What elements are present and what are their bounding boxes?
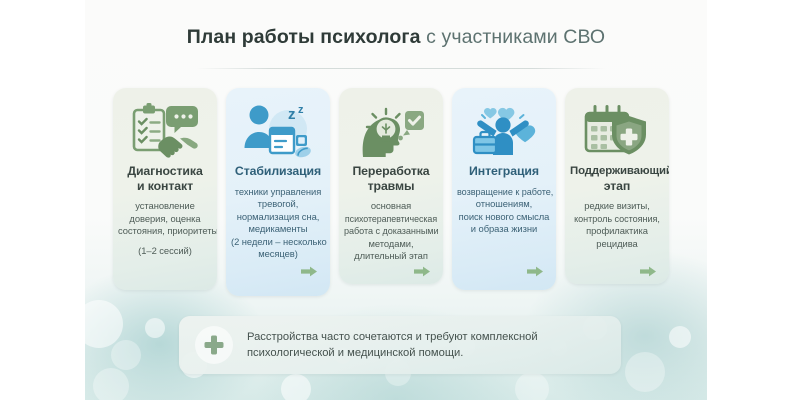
- stage-heading: Поддерживающий этап: [570, 164, 664, 193]
- stage-heading: Диагностика и контакт: [118, 164, 212, 193]
- arrow-right-icon: [527, 264, 543, 275]
- page-title: План работы психолога с участниками СВО: [85, 26, 707, 49]
- stage-card-pererabotka-travmy[interactable]: Переработка травмы основная психотерапев…: [339, 88, 443, 284]
- stage-body: техники управления тревогой, нормализаци…: [231, 186, 325, 262]
- bokeh-dot: [669, 326, 691, 348]
- clipboard-checklist-handshake-icon: [118, 100, 212, 162]
- bokeh-dot: [625, 352, 665, 392]
- stage-card-integraciya[interactable]: Интеграция возвращение к работе, отношен…: [452, 88, 556, 290]
- bokeh-dot: [111, 340, 141, 370]
- medical-cross-icon: [195, 326, 233, 364]
- stage-body: возвращение к работе, отношениям, поиск …: [457, 186, 551, 236]
- bokeh-dot: [515, 372, 549, 400]
- stage-heading: Интеграция: [457, 164, 551, 179]
- stage-card-diagnostika[interactable]: Диагностика и контакт установление довер…: [113, 88, 217, 290]
- head-lightbulb-check-icon: [344, 100, 438, 162]
- person-hearts-briefcase-icon: [457, 100, 551, 162]
- svg-text:z: z: [288, 106, 296, 123]
- arrow-right-icon: [640, 264, 656, 275]
- page-title-light: с участниками СВО: [421, 26, 606, 48]
- arrow-right-icon: [301, 264, 317, 275]
- footer-note-text: Расстройства часто сочетаются и требуют …: [247, 329, 538, 362]
- stage-card-podderzhivayushchiy-etap[interactable]: Поддерживающий этап редкие визиты, контр…: [565, 88, 669, 284]
- stage-heading: Стабилизация: [231, 164, 325, 179]
- infographic-root: План работы психолога с участниками СВО: [0, 0, 800, 400]
- bokeh-dot: [281, 374, 311, 400]
- svg-text:z: z: [298, 104, 304, 116]
- calendar-shield-cross-icon: [570, 100, 664, 162]
- stage-heading: Переработка травмы: [344, 164, 438, 193]
- stage-body: установление доверия, оценка состояния, …: [118, 200, 212, 257]
- bokeh-dot: [85, 300, 123, 348]
- stage-body: основная психотерапевтическая работа с д…: [344, 200, 438, 263]
- page-title-bold: План работы психолога: [187, 26, 421, 48]
- bokeh-dot: [145, 318, 165, 338]
- stage-body: редкие визиты, контроль состояния, профи…: [570, 200, 664, 250]
- arrow-right-icon: [414, 264, 430, 275]
- title-divider: [196, 68, 606, 69]
- person-sleep-medication-icon: z z: [231, 100, 325, 162]
- stages-row: Диагностика и контакт установление довер…: [85, 88, 707, 303]
- bokeh-dot: [93, 368, 129, 400]
- footer-note: Расстройства часто сочетаются и требуют …: [179, 316, 621, 374]
